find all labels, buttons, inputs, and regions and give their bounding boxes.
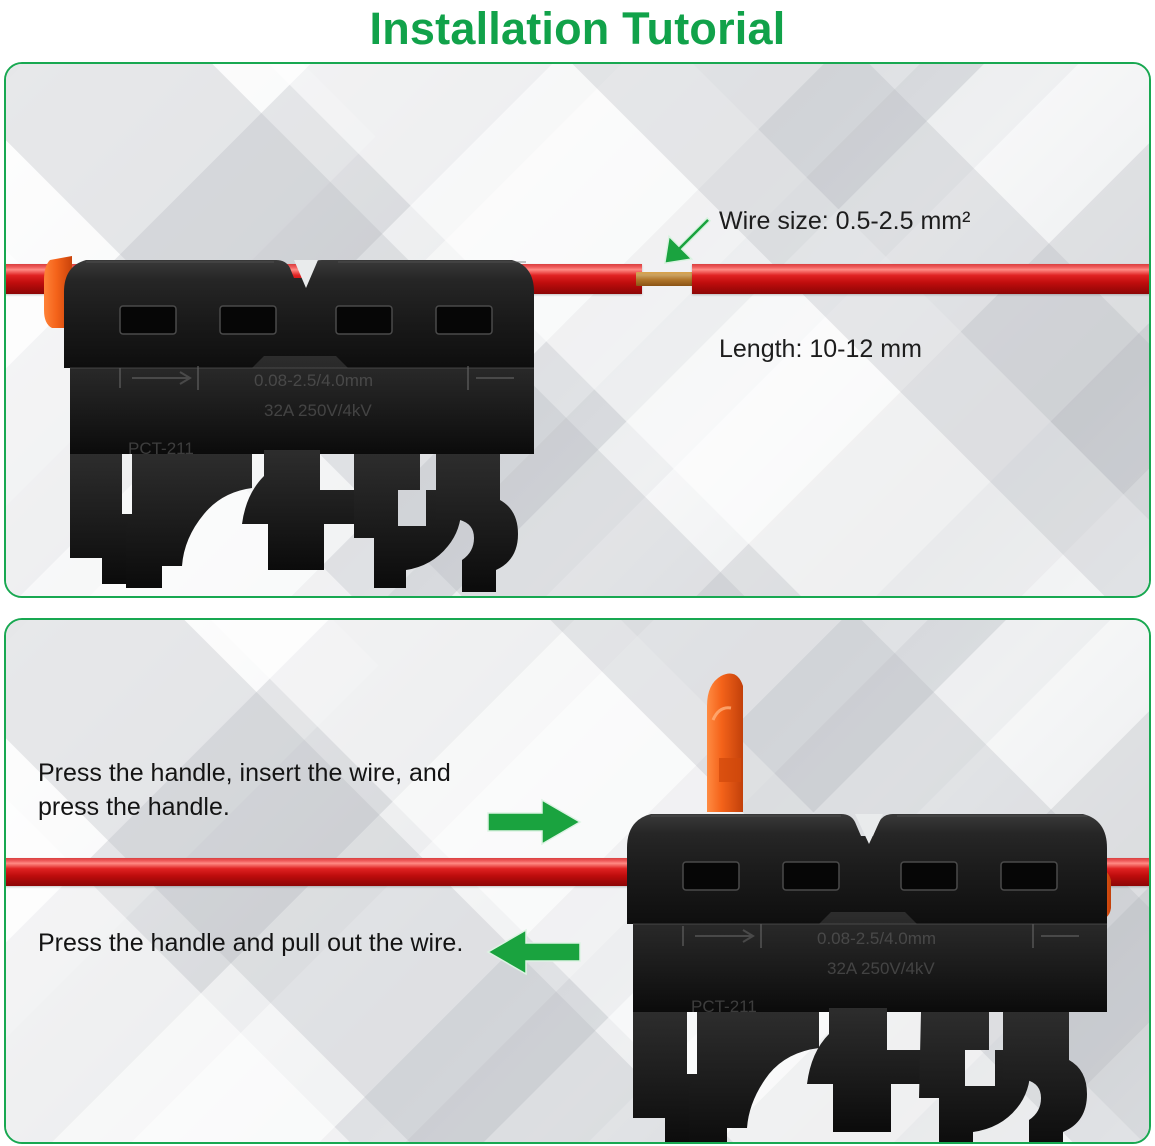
wire-insert-remove-panel: Press the handle, insert the wire, and p… xyxy=(4,618,1151,1144)
wire-spec-panel: Wire size: 0.5-2.5 mm² Length: 10-12 mm xyxy=(4,62,1151,598)
red-wire-sample xyxy=(692,264,1151,294)
page-title: Installation Tutorial xyxy=(0,2,1155,56)
marking-wire-range: 0.08-2.5/4.0mm xyxy=(817,929,936,948)
marking-wire-range: 0.08-2.5/4.0mm xyxy=(254,371,373,390)
din-rail-clip-assembly xyxy=(70,450,518,592)
wire-size-label: Wire size: 0.5-2.5 mm² xyxy=(719,206,970,236)
wire-strip-arrow xyxy=(650,206,722,278)
tutorial-page: Installation Tutorial xyxy=(0,0,1155,1146)
marking-rating: 32A 250V/4kV xyxy=(264,401,372,420)
insert-direction-arrow xyxy=(484,796,584,848)
insert-instruction-label: Press the handle, insert the wire, and p… xyxy=(38,756,518,824)
din-rail-clip-assembly xyxy=(633,1008,1087,1142)
din-rail-terminal-block: 0.08-2.5/4.0mm 32A 250V/4kV PCT-211 xyxy=(591,662,1151,1142)
din-rail-terminal-block: 0.08-2.5/4.0mm 32A 250V/4kV PCT-211 xyxy=(36,164,576,594)
marking-rating: 32A 250V/4kV xyxy=(827,959,935,978)
remove-instruction-label: Press the handle and pull out the wire. xyxy=(38,926,518,960)
orange-lever-open xyxy=(707,674,743,812)
wire-length-label: Length: 10-12 mm xyxy=(719,334,922,364)
remove-direction-arrow xyxy=(484,926,584,978)
